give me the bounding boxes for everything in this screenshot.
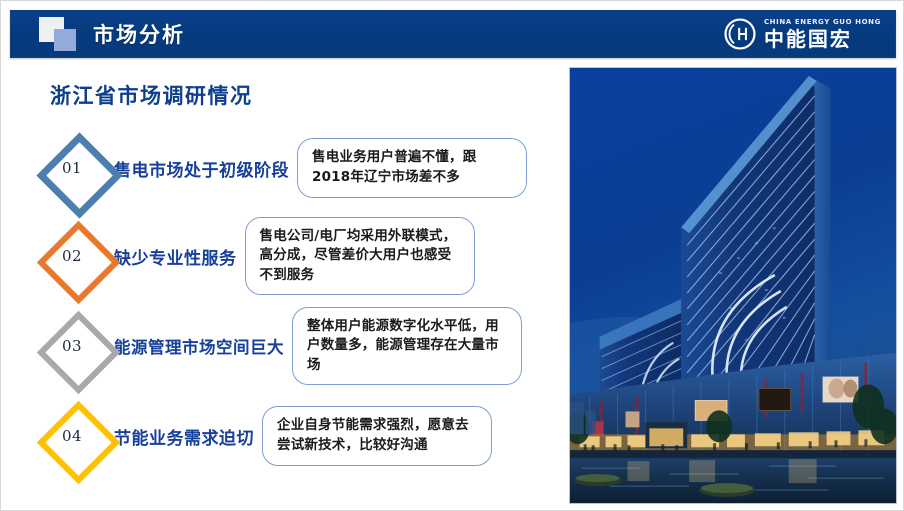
- item-label: 售电市场处于初级阶段: [114, 156, 289, 181]
- two-overlapping-squares-icon: [39, 17, 85, 51]
- list-item: 01 售电市场处于初级阶段 售电业务用户普遍不懂，跟2018年辽宁市场差不多: [36, 125, 566, 211]
- item-note-bubble: 售电公司/电厂均采用外联模式，高分成，尽管差价大用户也感受不到服务: [245, 217, 475, 296]
- item-label: 缺少专业性服务: [114, 244, 237, 269]
- item-note-bubble: 售电业务用户普遍不懂，跟2018年辽宁市场差不多: [297, 138, 527, 197]
- item-note-text: 企业自身节能需求强烈，愿意去尝试新技术，比较好沟通: [277, 416, 479, 455]
- diamond-badge-02: 02: [36, 220, 108, 292]
- item-label: 节能业务需求迫切: [114, 424, 254, 449]
- header-bar: 市场分析 CHINA ENERGY GUO HONG 中能国宏: [10, 10, 896, 58]
- logo-chinese-text: 中能国宏: [764, 29, 881, 49]
- slide: 市场分析 CHINA ENERGY GUO HONG 中能国宏 浙江省市场调研情…: [0, 0, 904, 511]
- diamond-badge-01: 01: [36, 132, 108, 204]
- page-title: 市场分析: [93, 19, 185, 49]
- item-number: 01: [62, 159, 82, 177]
- diamond-badge-04: 04: [36, 400, 108, 472]
- circle-g-logo-icon: [723, 17, 757, 51]
- item-note-bubble: 整体用户能源数字化水平低，用户数量多，能源管理存在大量市场: [292, 307, 522, 386]
- company-logo: CHINA ENERGY GUO HONG 中能国宏: [723, 17, 881, 51]
- item-number: 04: [62, 427, 82, 445]
- item-note-bubble: 企业自身节能需求强烈，愿意去尝试新技术，比较好沟通: [262, 406, 492, 465]
- square-blue: [54, 29, 76, 51]
- logo-english-text: CHINA ENERGY GUO HONG: [764, 19, 881, 26]
- item-number: 02: [62, 247, 82, 265]
- item-number: 03: [62, 337, 82, 355]
- item-note-text: 售电公司/电厂均采用外联模式，高分成，尽管差价大用户也感受不到服务: [260, 227, 462, 286]
- item-label: 能源管理市场空间巨大: [114, 334, 284, 358]
- item-note-text: 售电业务用户普遍不懂，跟2018年辽宁市场差不多: [312, 148, 514, 187]
- diamond-badge-03: 03: [36, 310, 108, 382]
- section-title: 浙江省市场调研情况: [50, 80, 253, 110]
- content-panel: 浙江省市场调研情况 01 售电市场处于初级阶段 售电业务用户普遍不懂，跟2018…: [10, 63, 565, 503]
- item-note-text: 整体用户能源数字化水平低，用户数量多，能源管理存在大量市场: [307, 317, 509, 376]
- list-item: 03 能源管理市场空间巨大 整体用户能源数字化水平低，用户数量多，能源管理存在大…: [36, 303, 566, 389]
- building-photo: [569, 67, 897, 504]
- list-item: 04 节能业务需求迫切 企业自身节能需求强烈，愿意去尝试新技术，比较好沟通: [36, 393, 566, 479]
- list-item: 02 缺少专业性服务 售电公司/电厂均采用外联模式，高分成，尽管差价大用户也感受…: [36, 213, 566, 299]
